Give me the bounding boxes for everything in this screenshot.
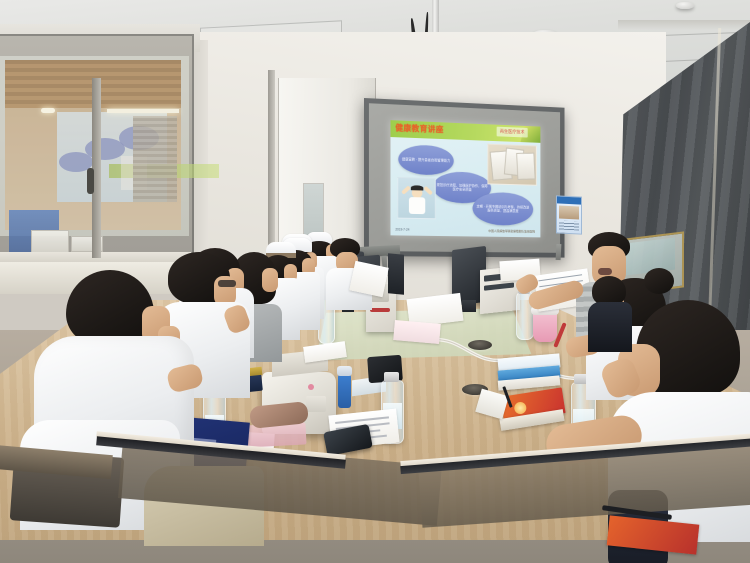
blue-dispenser: [338, 374, 351, 408]
hair-bun: [644, 268, 674, 294]
meeting-room-photo: 健康教育讲座 再生医疗技术 健康宣教 · 提升患者自我管理能力 规范诊疗流程，加…: [0, 0, 750, 563]
dark-clothing: [588, 302, 632, 352]
slide-footer-org: 中国人民解放军联勤保障部队第某医院: [488, 229, 535, 234]
window-glass: [0, 56, 189, 236]
glass-partition: [0, 34, 194, 264]
slide-bubble-1: 健康宣教 · 提升患者自我管理能力: [398, 144, 453, 175]
dispenser-cap: [337, 366, 352, 376]
curtain-rod: [618, 20, 750, 30]
slide-photo: [487, 144, 536, 186]
ceiling-spot-light: [41, 108, 55, 113]
smoke-detector-icon: [676, 2, 694, 9]
drink-cup[interactable]: [533, 312, 557, 342]
storage-box: [31, 230, 69, 254]
slide-footer-date: 2019-7-24: [395, 227, 409, 231]
slide-cartoon-figure: [397, 177, 435, 219]
slide-subtitle: 再生医疗技术: [497, 127, 528, 138]
fluorescent-light: [107, 109, 179, 113]
projection-screen: 健康教育讲座 再生医疗技术 健康宣教 · 提升患者自我管理能力 规范诊疗流程，加…: [364, 98, 565, 258]
poster-image: [559, 205, 579, 219]
screen-surface: 健康教育讲座 再生医疗技术 健康宣教 · 提升患者自我管理能力 规范诊疗流程，加…: [369, 103, 560, 253]
poster-text-lines: [559, 220, 579, 230]
bottle-cap: [384, 372, 399, 382]
window-handle-icon[interactable]: [87, 168, 94, 194]
monitor-stand: [462, 300, 476, 312]
mouth: [598, 268, 612, 275]
door-frame: [268, 70, 275, 270]
slide-content: 健康教育讲座 再生医疗技术 健康宣教 · 提升患者自我管理能力 规范诊疗流程，加…: [390, 120, 540, 237]
poster-title-band: [557, 196, 581, 204]
screen-support: [556, 244, 562, 260]
wall-poster: [556, 195, 582, 234]
window-shade: [133, 116, 177, 202]
papers: [393, 320, 441, 344]
slide-bubble-3: 定期 · 开展专题培训与考核，持续改进服务质量，提高满意度: [473, 192, 534, 226]
equipment-arm: [388, 253, 404, 294]
eyeglasses-icon: [218, 280, 236, 287]
window-mullion: [92, 78, 101, 258]
